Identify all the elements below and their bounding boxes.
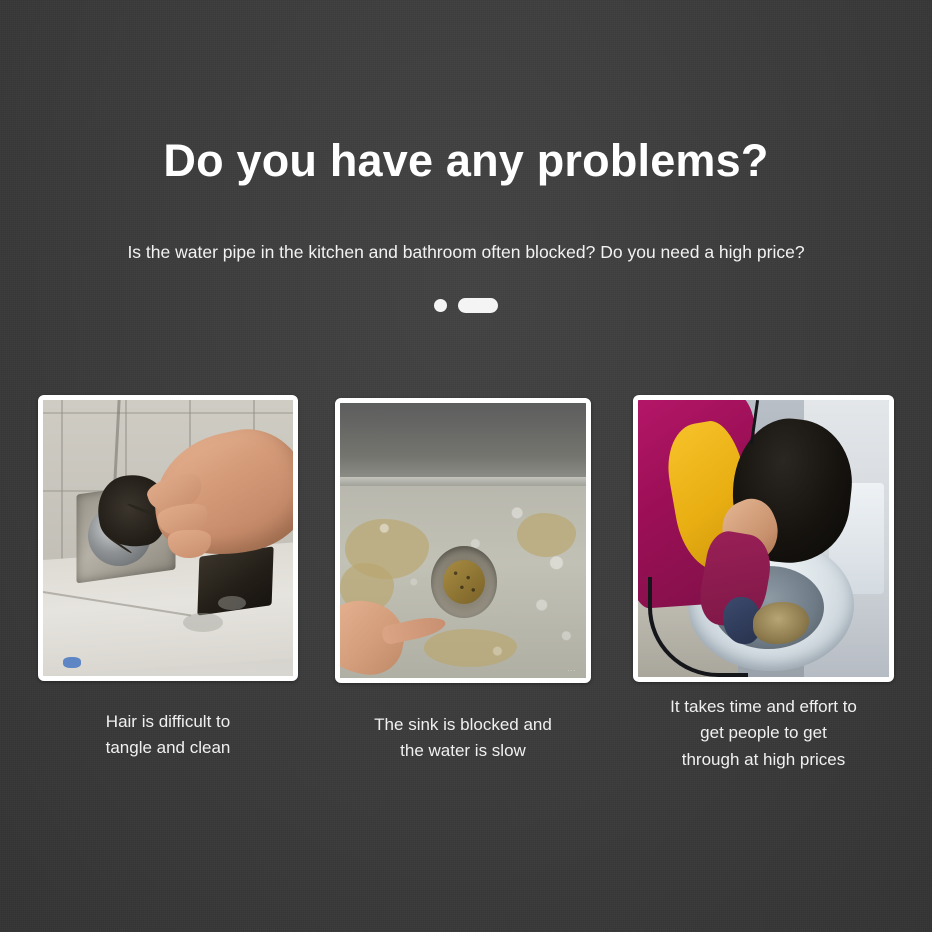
problem-card-2[interactable]: ... The sink is blocked and the water is… bbox=[335, 395, 591, 683]
problem-card-3[interactable]: It takes time and effort to get people t… bbox=[633, 395, 894, 682]
photo-watermark: ... bbox=[567, 666, 576, 673]
photo-toilet-unclogging bbox=[638, 400, 889, 677]
caption-2-line-2: the water is slow bbox=[335, 738, 591, 764]
caption-2-line-1: The sink is blocked and bbox=[335, 712, 591, 738]
problem-card-1[interactable]: Hair is difficult to tangle and clean bbox=[38, 395, 298, 681]
promo-slide: Do you have any problems? Is the water p… bbox=[0, 0, 932, 932]
photo-frame-1 bbox=[38, 395, 298, 681]
caption-3: It takes time and effort to get people t… bbox=[633, 694, 894, 773]
pagination-dot-2-active[interactable] bbox=[458, 298, 498, 313]
caption-1: Hair is difficult to tangle and clean bbox=[38, 709, 298, 762]
caption-1-line-2: tangle and clean bbox=[38, 735, 298, 761]
page-subtitle: Is the water pipe in the kitchen and bat… bbox=[0, 241, 932, 264]
caption-3-line-3: through at high prices bbox=[633, 747, 894, 773]
caption-2: The sink is blocked and the water is slo… bbox=[335, 712, 591, 765]
pagination-indicator[interactable] bbox=[0, 298, 932, 313]
photo-frame-3 bbox=[633, 395, 894, 682]
caption-1-line-1: Hair is difficult to bbox=[38, 709, 298, 735]
pagination-dot-1[interactable] bbox=[434, 299, 447, 312]
page-title: Do you have any problems? bbox=[0, 136, 932, 186]
caption-3-line-2: get people to get bbox=[633, 720, 894, 746]
photo-floor-drain-hair bbox=[43, 400, 293, 676]
photo-frame-2: ... bbox=[335, 398, 591, 683]
card-row: Hair is difficult to tangle and clean bbox=[0, 395, 932, 795]
caption-3-line-1: It takes time and effort to bbox=[633, 694, 894, 720]
photo-blocked-sink: ... bbox=[340, 403, 586, 678]
